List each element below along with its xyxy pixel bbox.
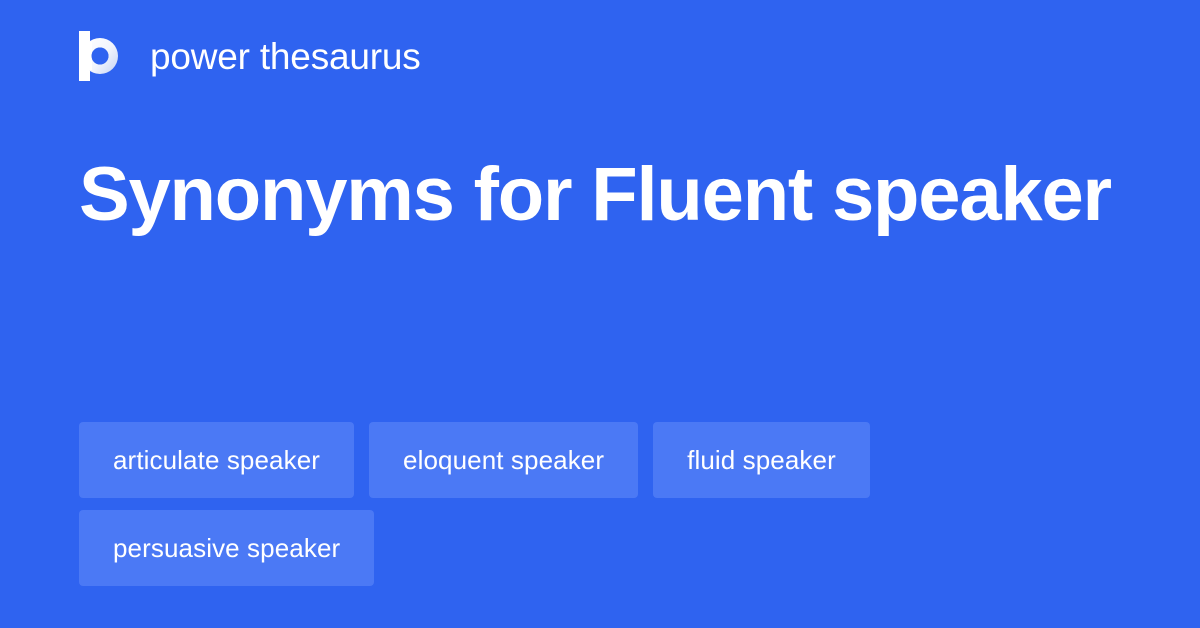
synonym-chip[interactable]: fluid speaker [653,422,870,498]
page-title: Synonyms for Fluent speaker [79,140,1119,250]
brand-lockup[interactable]: power thesaurus [79,28,421,84]
share-card: power thesaurus Synonyms for Fluent spea… [0,0,1200,628]
synonym-chip-list: articulate speaker eloquent speaker flui… [79,422,1129,586]
brand-name: power thesaurus [150,38,421,75]
synonym-chip[interactable]: eloquent speaker [369,422,638,498]
power-thesaurus-b-logo-icon [79,31,125,81]
synonym-chip[interactable]: persuasive speaker [79,510,374,586]
synonym-chip[interactable]: articulate speaker [79,422,354,498]
